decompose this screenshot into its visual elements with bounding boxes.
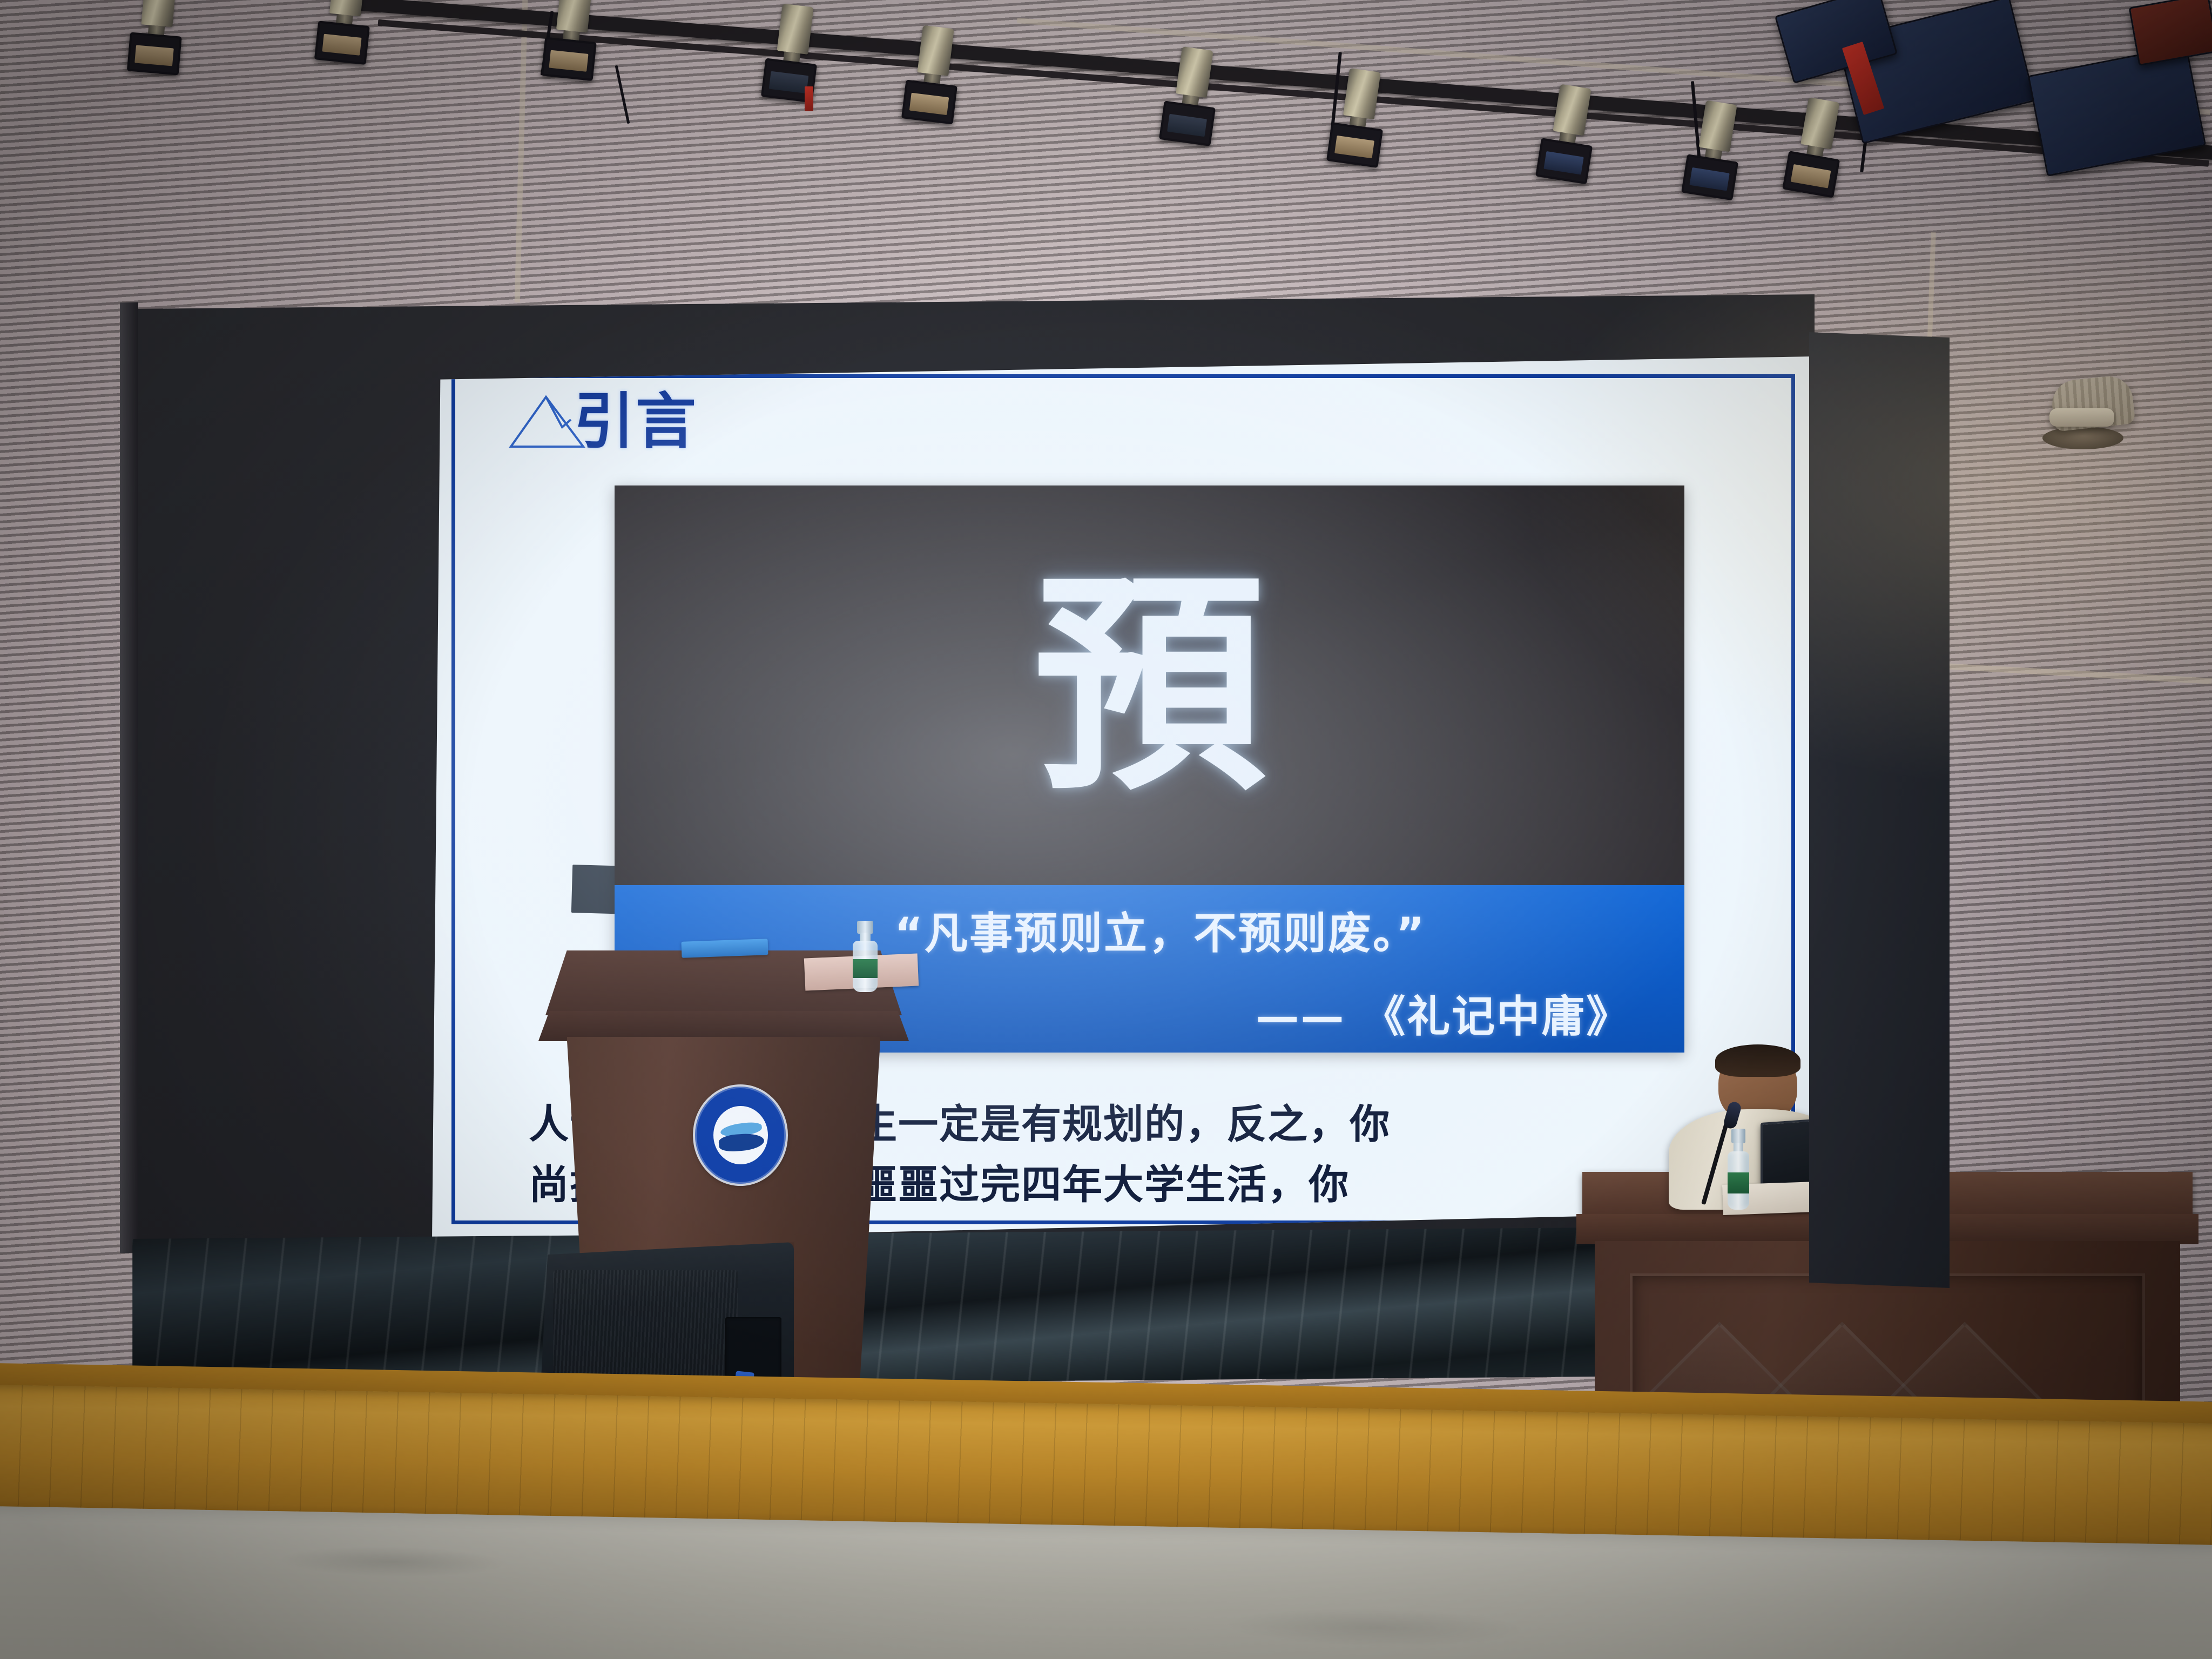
lamp-barndoor <box>1535 138 1593 184</box>
lamp-body <box>556 0 592 33</box>
person-hair <box>1715 1044 1800 1077</box>
lamp-barndoor <box>1326 122 1383 168</box>
lamp-body <box>1553 84 1591 136</box>
bottle-label <box>1728 1172 1749 1193</box>
podium-lip <box>538 1011 909 1041</box>
duct-collar <box>2049 408 2114 427</box>
university-emblem <box>695 1087 786 1184</box>
lamp-body <box>1699 100 1737 152</box>
quote-attribution: —— 《礼记中庸》 <box>1256 982 1631 1044</box>
lamp-barndoor <box>1159 100 1216 146</box>
lamp-barndoor <box>127 32 182 75</box>
blue-tray <box>682 939 768 958</box>
emblem-ring <box>695 1087 786 1184</box>
lamp-body <box>777 3 813 54</box>
red-marker-flag <box>805 86 813 111</box>
led-wall-left-edge <box>120 302 138 1253</box>
lamp-barndoor <box>901 79 957 124</box>
water-bottle <box>851 921 879 992</box>
lamp-barndoor <box>314 21 370 65</box>
duct-opening <box>2042 427 2123 449</box>
slide-title-row: 引言 <box>508 394 697 450</box>
bottle-label <box>853 959 878 977</box>
stage-light <box>127 0 187 76</box>
stage-photograph: 引言 預 “凡事预则立，不预则废。” —— 《礼记中庸》 人士，对自己的人生一定… <box>0 0 2212 1659</box>
stage-light <box>541 0 603 81</box>
lamp-barndoor <box>1681 154 1738 200</box>
lamp-body <box>329 0 366 17</box>
lamp-body <box>1176 46 1213 98</box>
calligraphy-backdrop: 預 <box>615 485 1684 885</box>
lamp-body <box>1800 97 1839 150</box>
lamp-body <box>141 0 176 27</box>
lamp-body <box>1343 68 1381 119</box>
calligraphy-character: 預 <box>615 502 1684 869</box>
lamp-barndoor <box>541 37 597 81</box>
bottle-neck <box>1734 1143 1743 1152</box>
slide-title: 引言 <box>574 394 697 450</box>
led-wall-base-skirt <box>132 1226 1817 1388</box>
led-wall-right-dark-edge <box>1809 332 1950 1288</box>
bottle-cap <box>857 921 873 934</box>
lamp-body <box>917 25 954 76</box>
speaker-grille <box>553 1270 738 1383</box>
bottle-cap <box>1731 1129 1745 1143</box>
bottle-neck <box>860 933 871 941</box>
stage-light <box>314 0 376 65</box>
water-bottle <box>1726 1129 1751 1210</box>
